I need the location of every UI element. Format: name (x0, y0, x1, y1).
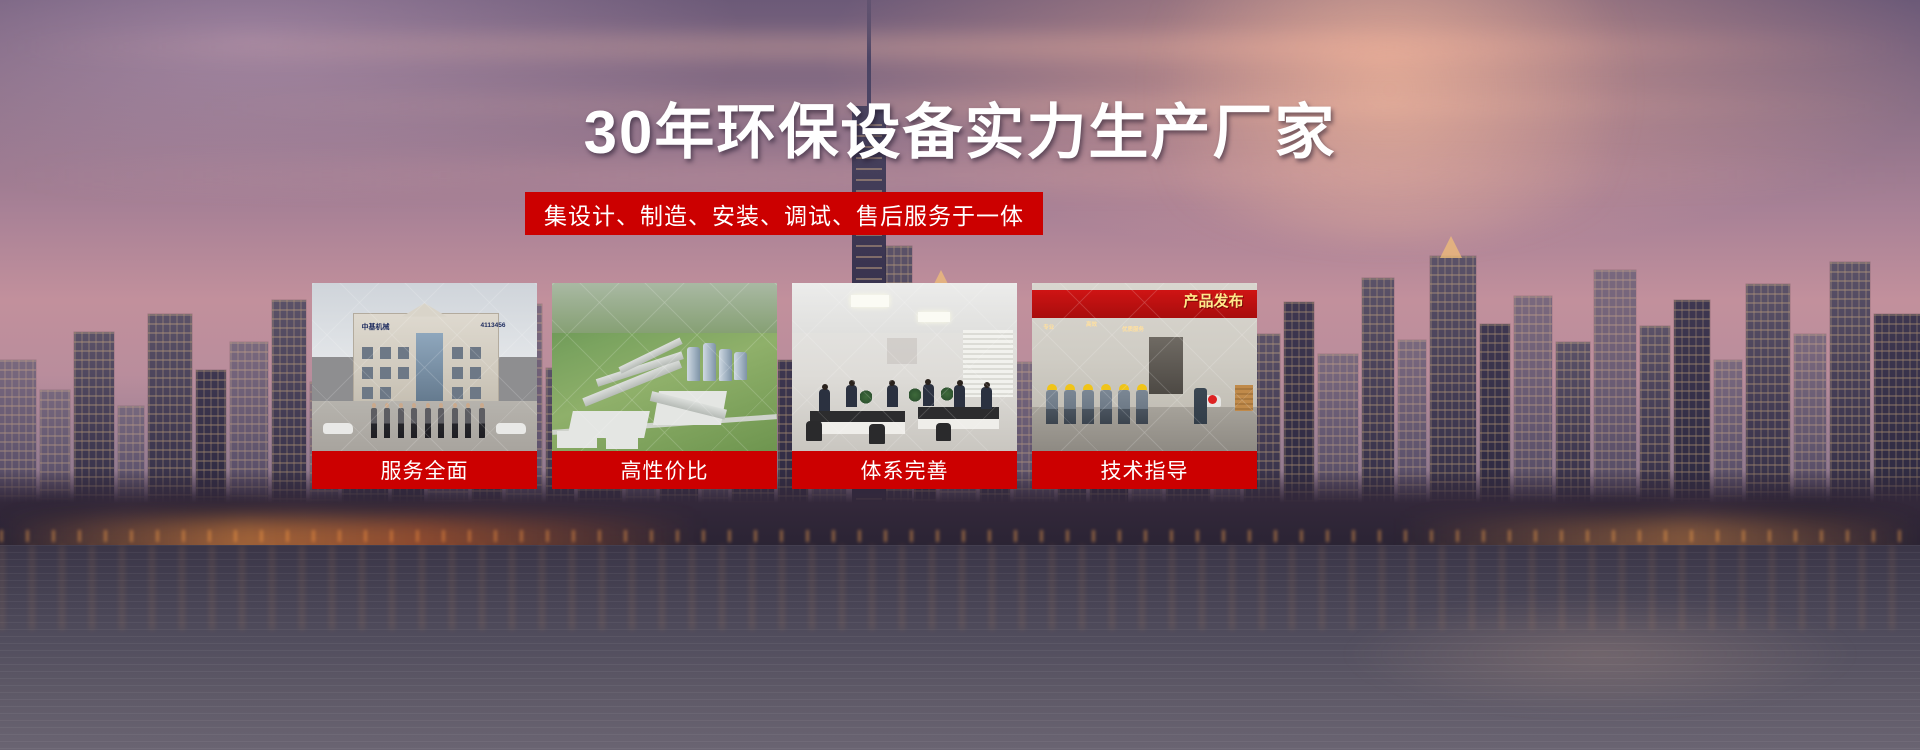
hero-banner: 30年环保设备实力生产厂家 集设计、制造、安装、调试、售后服务于一体 中基机械 … (0, 0, 1920, 750)
card-label-bar: 技术指导 (1032, 451, 1257, 489)
card-label-text: 技术指导 (1101, 455, 1189, 485)
factory-banner-text: 产品发布 (1183, 290, 1243, 311)
card-label-bar: 体系完善 (792, 451, 1017, 489)
feature-card[interactable]: 中基机械 4113456 (312, 283, 537, 489)
card-label-text: 体系完善 (861, 455, 949, 485)
card-photo-industrial-plant (552, 283, 777, 451)
subtitle-text: 集设计、制造、安装、调试、售后服务于一体 (544, 197, 1024, 231)
card-photo-factory-workers: 产品发布 专业 高效 优质服务 (1032, 283, 1257, 451)
feature-card[interactable]: 体系完善 (792, 283, 1017, 489)
factory-small-text-left: 专业 (1043, 323, 1054, 331)
building-phone-text: 4113456 (481, 322, 506, 329)
feature-card-list: 中基机械 4113456 (312, 283, 1257, 489)
feature-card[interactable]: 高性价比 (552, 283, 777, 489)
card-photo-office-meeting (792, 283, 1017, 451)
factory-small-text-mid: 高效 (1086, 320, 1097, 328)
card-label-bar: 服务全面 (312, 451, 537, 489)
page-title: 30年环保设备实力生产厂家 (0, 103, 1920, 163)
subtitle-banner: 集设计、制造、安装、调试、售后服务于一体 (525, 192, 1043, 235)
card-label-text: 高性价比 (621, 455, 709, 485)
card-label-text: 服务全面 (381, 455, 469, 485)
card-photo-office-building: 中基机械 4113456 (312, 283, 537, 451)
feature-card[interactable]: 产品发布 专业 高效 优质服务 (1032, 283, 1257, 489)
card-label-bar: 高性价比 (552, 451, 777, 489)
factory-small-text-right: 优质服务 (1122, 325, 1144, 333)
building-sign-text: 中基机械 (362, 322, 390, 332)
